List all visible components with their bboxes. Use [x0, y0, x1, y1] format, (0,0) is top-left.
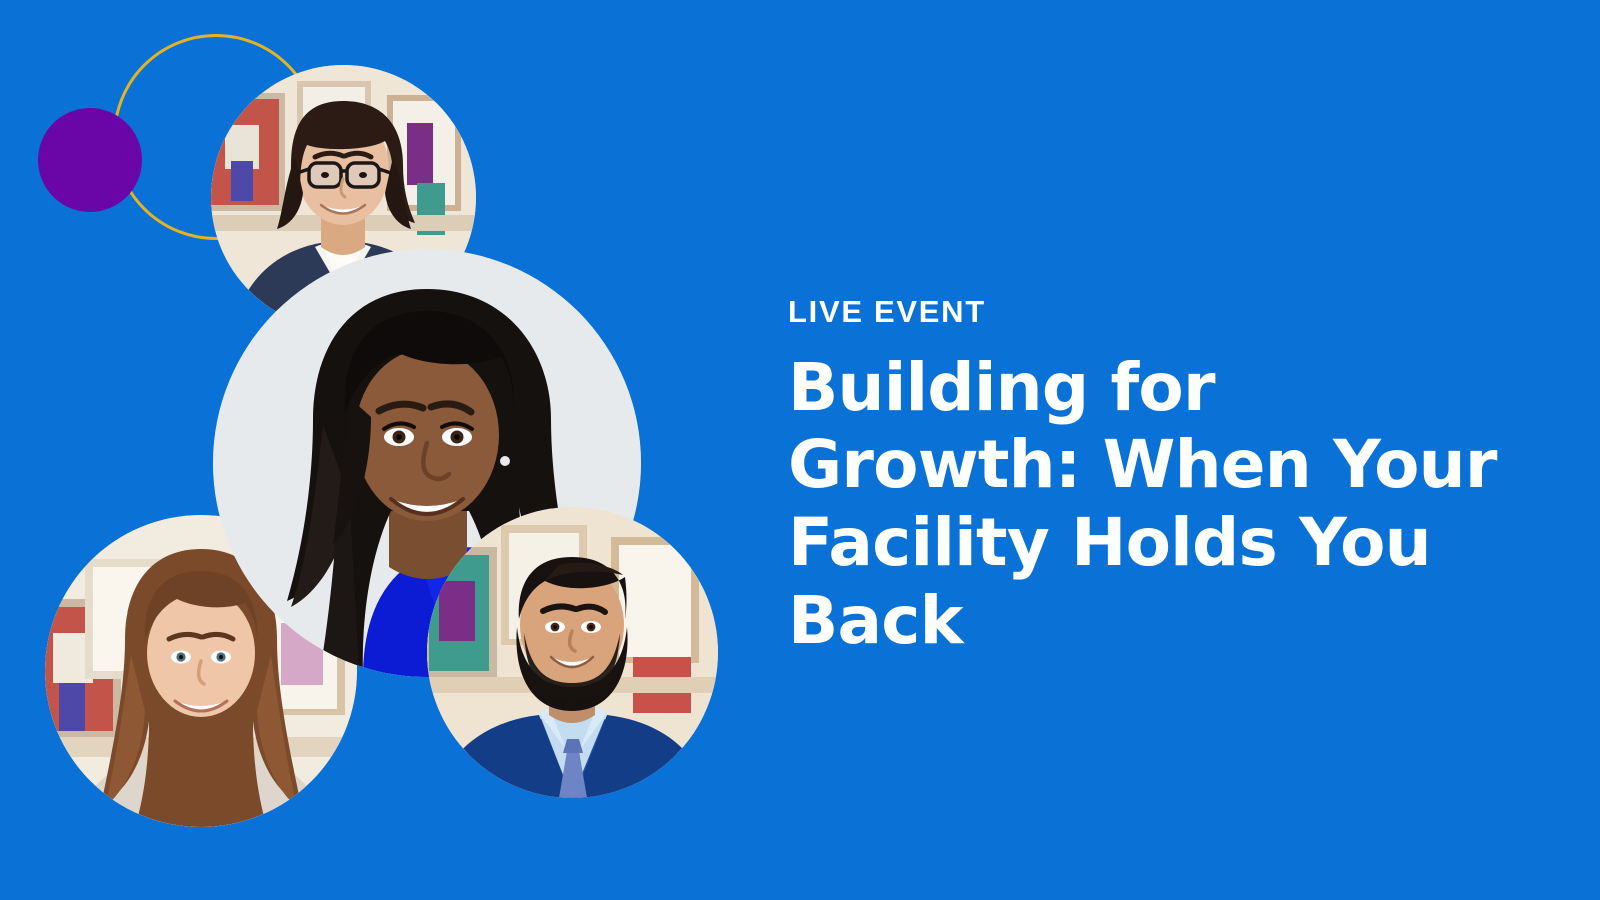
event-headline: Building for Growth: When Your Facility …: [788, 349, 1504, 661]
purple-circle-decoration: [38, 108, 142, 212]
live-event-banner: LIVE EVENT Building for Growth: When You…: [0, 0, 1600, 900]
event-eyebrow-label: LIVE EVENT: [788, 296, 1528, 329]
event-text-block: LIVE EVENT Building for Growth: When You…: [788, 296, 1528, 660]
speaker-photo-bottom-right: [427, 507, 718, 798]
